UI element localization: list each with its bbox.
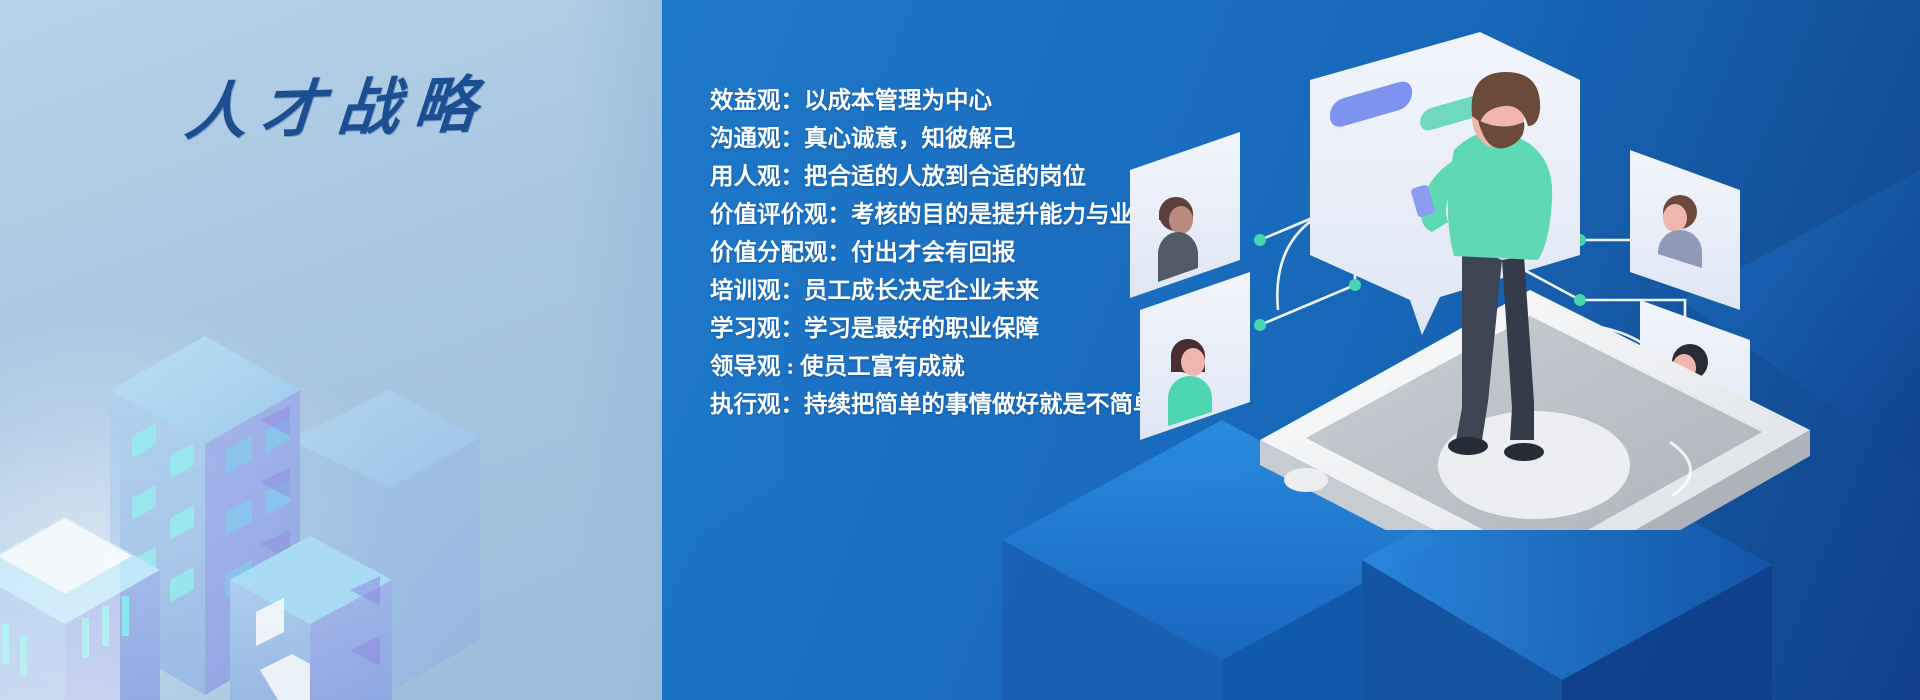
slide-title-wrap: 人才战略 [0, 58, 662, 148]
right-panel: 效益观：以成本管理为中心 沟通观：真心诚意，知彼解己 用人观：把合适的人放到合适… [662, 0, 1920, 700]
isometric-city-buildings [0, 240, 580, 700]
avatar-card-top-left [1130, 132, 1240, 298]
avatar-card-bottom-left [1140, 272, 1250, 440]
slide-canvas: 人才战略 [0, 0, 1920, 700]
panel-edge-gradient [572, 0, 662, 700]
isometric-team-network-illustration [1110, 10, 1920, 530]
page-title: 人才战略 [168, 54, 494, 152]
smartphone [1260, 290, 1810, 530]
left-panel: 人才战略 [0, 0, 662, 700]
avatar-card-top-right [1630, 150, 1740, 310]
